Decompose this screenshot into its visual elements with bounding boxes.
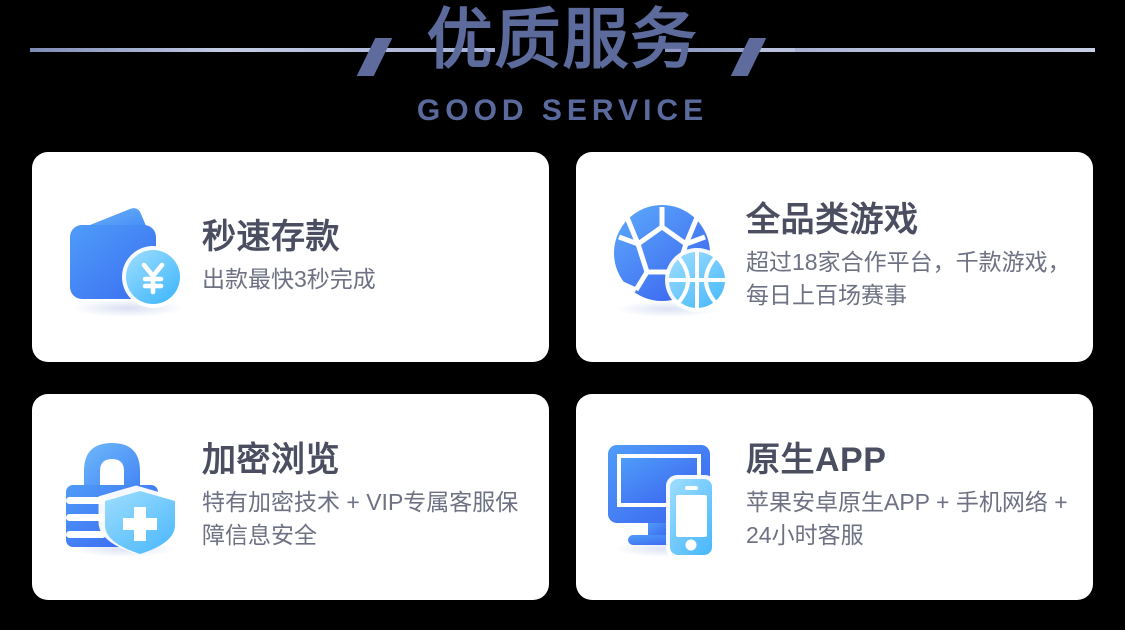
card-text-block: 全品类游戏 超过18家合作平台，千款游戏，每日上百场赛事	[738, 202, 1090, 311]
wallet-yen-icon	[58, 195, 194, 319]
page-subtitle: GOOD SERVICE	[0, 96, 1125, 126]
card-text-block: 原生APP 苹果安卓原生APP + 手机网络 + 24小时客服	[738, 442, 1090, 551]
card-description: 超过18家合作平台，千款游戏，每日上百场赛事	[746, 246, 1076, 311]
soccer-basketball-icon	[602, 195, 738, 319]
card-description: 苹果安卓原生APP + 手机网络 + 24小时客服	[746, 486, 1076, 551]
card-title: 全品类游戏	[746, 202, 1076, 239]
card-title: 秒速存款	[202, 219, 376, 256]
card-text-block: 秒速存款 出款最快3秒完成	[194, 219, 390, 295]
feature-card-deposit[interactable]: 秒速存款 出款最快3秒完成	[32, 152, 549, 362]
monitor-phone-icon	[602, 435, 738, 559]
feature-card-native-app[interactable]: 原生APP 苹果安卓原生APP + 手机网络 + 24小时客服	[576, 394, 1093, 600]
card-title: 加密浏览	[202, 442, 532, 479]
lock-shield-icon	[58, 435, 194, 559]
feature-card-grid: 秒速存款 出款最快3秒完成	[32, 152, 1093, 600]
card-description: 出款最快3秒完成	[202, 263, 376, 296]
card-description: 特有加密技术 + VIP专属客服保障信息安全	[202, 486, 532, 551]
feature-card-encryption[interactable]: 加密浏览 特有加密技术 + VIP专属客服保障信息安全	[32, 394, 549, 600]
card-title: 原生APP	[746, 442, 1076, 479]
page-header: 优质服务 GOOD SERVICE	[0, 0, 1125, 145]
page-title: 优质服务	[0, 6, 1125, 72]
card-text-block: 加密浏览 特有加密技术 + VIP专属客服保障信息安全	[194, 442, 546, 551]
feature-card-games[interactable]: 全品类游戏 超过18家合作平台，千款游戏，每日上百场赛事	[576, 152, 1093, 362]
